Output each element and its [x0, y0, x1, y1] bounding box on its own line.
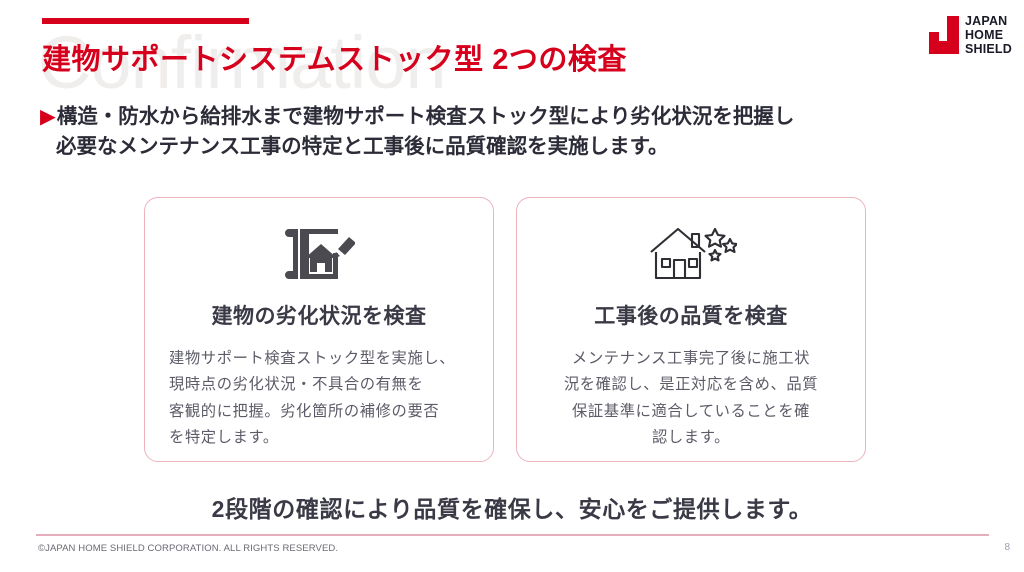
logo-line-1: JAPAN — [965, 14, 1012, 28]
logo-wordmark: JAPAN HOME SHIELD — [965, 14, 1012, 56]
card-body-line: 認します。 — [541, 425, 841, 451]
logo-line-2: HOME — [965, 28, 1012, 42]
card-body-line: 現時点の劣化状況・不具合の有無を — [169, 372, 469, 398]
card-body-line: 建物サポート検査ストック型を実施し、 — [169, 346, 469, 372]
card-post-construction-quality[interactable]: 工事後の品質を検査 メンテナンス工事完了後に施工状 況を確認し、是正対応を含め、… — [516, 197, 866, 462]
card-body-line: 保証基準に適合していることを確 — [541, 399, 841, 425]
japan-home-shield-logo: JAPAN HOME SHIELD — [929, 14, 1012, 56]
page-title: 建物サポートシステムストック型 2つの検査 — [42, 36, 627, 78]
logo-j-mark — [929, 16, 959, 54]
house-stars-icon — [645, 218, 737, 290]
card-body-line: 客観的に把握。劣化箇所の補修の要否 — [169, 399, 469, 425]
lead-paragraph: ▶構造・防水から給排水まで建物サポート検査ストック型により劣化状況を把握し 必要… — [40, 102, 940, 161]
closing-statement: 2段階の確認により品質を確保し、安心をご提供します。 — [0, 490, 1024, 524]
footer-copyright: ©JAPAN HOME SHIELD CORPORATION. ALL RIGH… — [38, 543, 338, 554]
logo-line-3: SHIELD — [965, 42, 1012, 56]
card-body-line: を特定します。 — [169, 425, 469, 451]
card-title: 工事後の品質を検査 — [594, 300, 788, 330]
card-body: 建物サポート検査ストック型を実施し、 現時点の劣化状況・不具合の有無を 客観的に… — [169, 346, 469, 451]
card-title: 建物の劣化状況を検査 — [212, 300, 427, 330]
bullet-marker-icon: ▶ — [40, 105, 56, 128]
card-building-deterioration[interactable]: 建物の劣化状況を検査 建物サポート検査ストック型を実施し、 現時点の劣化状況・不… — [144, 197, 494, 462]
lead-line-2: 必要なメンテナンス工事の特定と工事後に品質確認を実施します。 — [40, 132, 940, 162]
page-number: 8 — [1004, 542, 1010, 553]
blueprint-house-pencil-icon — [283, 218, 355, 290]
slide-canvas: JAPAN HOME SHIELD Confirmation 建物サポートシステ… — [0, 0, 1024, 572]
footer-divider — [36, 534, 989, 536]
lead-line-1: 構造・防水から給排水まで建物サポート検査ストック型により劣化状況を把握し — [57, 105, 795, 128]
card-body-line: 況を確認し、是正対応を含め、品質 — [541, 372, 841, 398]
card-body-line: メンテナンス工事完了後に施工状 — [541, 346, 841, 372]
card-body: メンテナンス工事完了後に施工状 況を確認し、是正対応を含め、品質 保証基準に適合… — [541, 346, 841, 451]
inspection-cards: 建物の劣化状況を検査 建物サポート検査ストック型を実施し、 現時点の劣化状況・不… — [144, 197, 867, 462]
